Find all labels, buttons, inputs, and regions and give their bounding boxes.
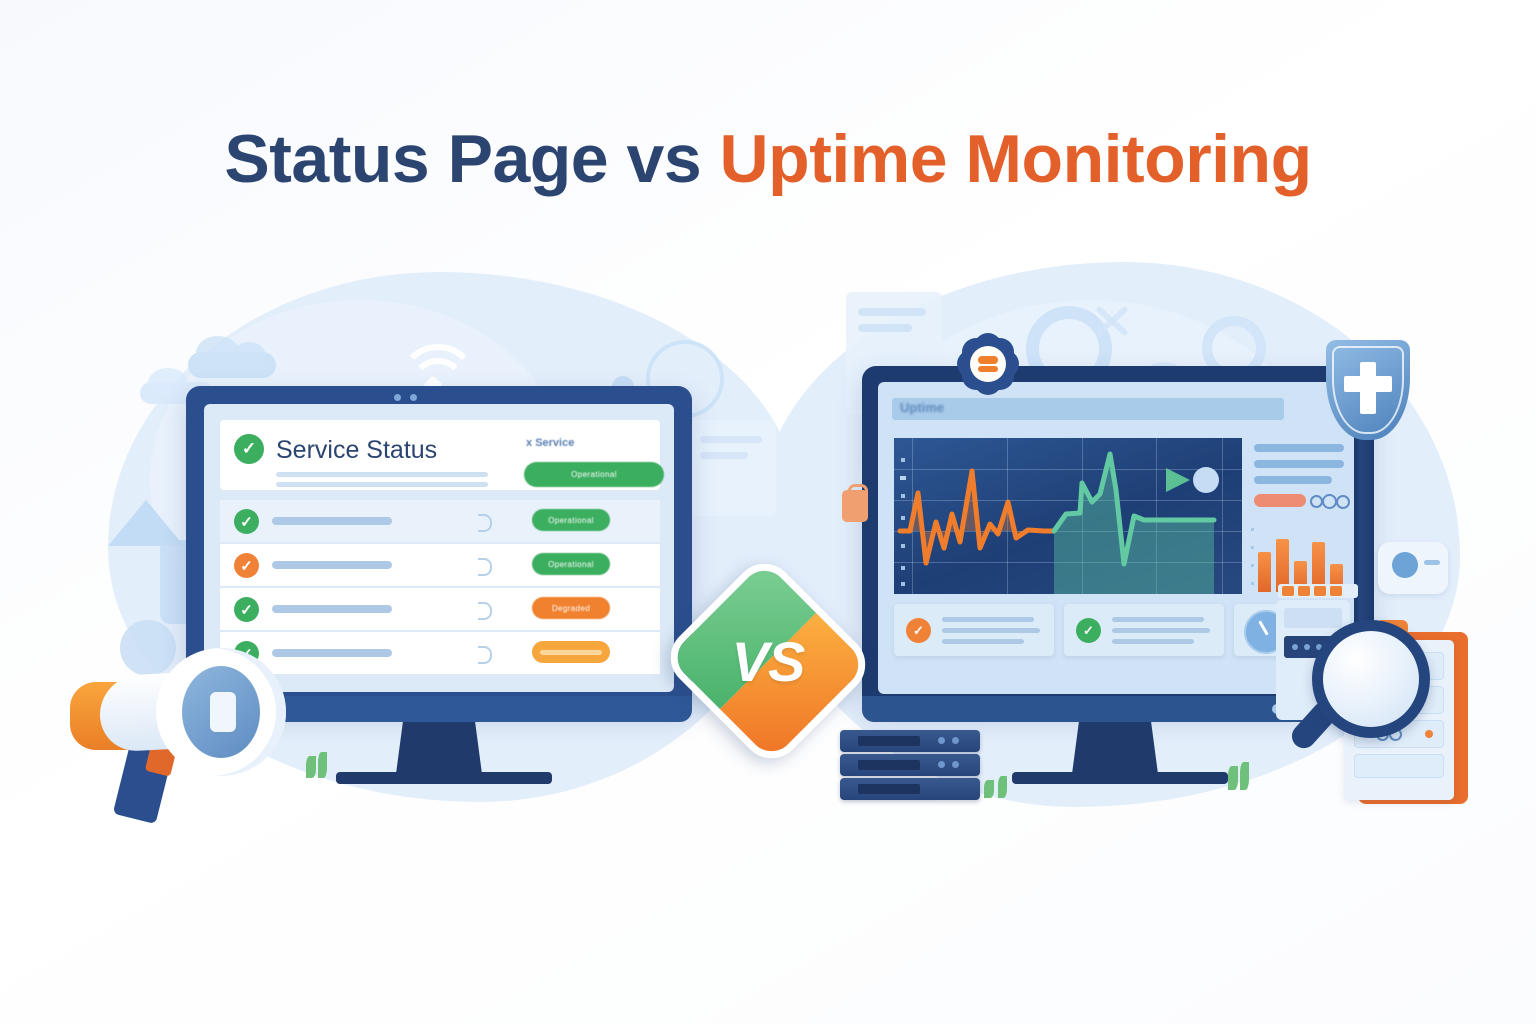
vs-badge: VS	[688, 586, 848, 736]
card-status-check-icon: ✓	[906, 618, 931, 643]
uptime-line-chart	[894, 438, 1242, 594]
right-monitor-neck	[1072, 722, 1158, 774]
page-title-part-orange: Uptime Monitoring	[720, 121, 1312, 197]
card-line-1	[942, 617, 1034, 622]
doc-decor-right-1-line1	[858, 308, 926, 316]
user-badge-line	[1424, 560, 1440, 565]
play-marker-icon	[1166, 468, 1190, 492]
page-title: Status Page vs Uptime Monitoring	[0, 124, 1536, 195]
status-badge-inner-bar	[540, 650, 602, 655]
left-monitor-base	[336, 772, 552, 784]
illustration-canvas: Status Page vs Uptime Monitoring	[0, 0, 1536, 1024]
user-avatar-icon	[1392, 552, 1418, 578]
status-badge: Degraded	[532, 597, 610, 619]
grass-decor-3	[984, 780, 994, 798]
status-badge-label: Operational	[548, 560, 594, 569]
table-row[interactable]: ✓ Degraded	[220, 588, 660, 630]
grass-decor-6	[1240, 762, 1249, 790]
toggle-dot-3[interactable]	[1336, 495, 1350, 509]
card-line-1	[1112, 617, 1204, 622]
right-monitor-header-text: Uptime	[900, 400, 944, 415]
chart-svg	[894, 438, 1242, 594]
side-panel-accent-pill	[1254, 494, 1306, 507]
list-item[interactable]: ✓	[894, 604, 1054, 656]
page-title-part-dark: Status Page vs	[224, 121, 719, 197]
row-status-check-icon: ✓	[234, 597, 259, 622]
gear-badge-icon	[962, 338, 1014, 390]
right-side-panel	[1252, 438, 1346, 594]
doc-decor-right-2-line2	[700, 452, 748, 459]
bar-1	[1258, 552, 1271, 592]
status-badge	[532, 641, 610, 663]
doc-decor-right-1-line2	[858, 324, 912, 332]
header-status-check-icon: ✓	[234, 434, 264, 464]
header-skeleton-line-2	[276, 482, 488, 487]
side-panel-line-1	[1254, 444, 1344, 452]
chart-orange-line	[900, 471, 1054, 563]
left-monitor-led-1	[394, 394, 401, 401]
shield-cross-icon	[1326, 340, 1410, 440]
brand-text: Service	[535, 437, 574, 449]
magnifying-glass-icon[interactable]	[1296, 620, 1424, 750]
status-badge-label: Operational	[548, 516, 594, 525]
cloud-decor-3	[232, 342, 266, 370]
card-line-2	[1112, 628, 1210, 633]
status-badge: Operational	[532, 509, 610, 531]
header-skeleton-line-1	[276, 472, 488, 477]
shield-pole	[1358, 430, 1374, 630]
doc-decor-right-2-line1	[700, 436, 762, 443]
row-status-check-icon: ✓	[234, 509, 259, 534]
grass-decor-5	[1228, 766, 1238, 790]
card-line-3	[942, 639, 1024, 644]
chart-endpoint-dot	[1193, 467, 1219, 493]
megaphone-icon	[64, 640, 334, 820]
row-value-skeleton	[478, 602, 492, 620]
vs-badge-label: VS	[688, 586, 848, 736]
service-status-header-panel: ✓ Service Status x Service Operational	[220, 420, 660, 490]
row-label-skeleton	[272, 561, 392, 569]
toggle-dot-2[interactable]	[1322, 494, 1337, 509]
card-status-check-icon: ✓	[1076, 618, 1101, 643]
side-panel-line-2	[1254, 460, 1344, 468]
status-badge-label: Degraded	[552, 604, 590, 613]
row-label-skeleton	[272, 517, 392, 525]
grass-decor-1	[306, 756, 316, 778]
right-monitor-base	[1012, 772, 1228, 784]
card-line-3	[1112, 639, 1194, 644]
status-badge: Operational	[532, 553, 610, 575]
table-row[interactable]: ✓ Operational	[220, 544, 660, 586]
left-monitor-neck	[396, 722, 482, 774]
header-operational-label: Operational	[571, 470, 617, 479]
grass-decor-2	[318, 752, 327, 778]
left-monitor-led-2	[410, 394, 417, 401]
grass-decor-4	[998, 776, 1007, 798]
brand-label: x Service	[526, 437, 574, 449]
right-monitor-header-bar	[892, 398, 1284, 420]
row-status-check-icon: ✓	[234, 553, 259, 578]
cloud-decor-5	[148, 368, 188, 398]
brand-prefix: x	[526, 437, 532, 449]
table-row[interactable]: ✓ Operational	[220, 500, 660, 542]
card-line-2	[942, 628, 1040, 633]
row-label-skeleton	[272, 605, 392, 613]
doc-decor-right-2	[690, 420, 776, 516]
service-status-title: Service Status	[276, 436, 437, 465]
row-value-skeleton	[478, 646, 492, 664]
header-operational-button[interactable]: Operational	[524, 462, 664, 487]
uptime-bar-chart	[1252, 520, 1346, 592]
side-panel-line-3	[1254, 476, 1332, 484]
row-value-skeleton	[478, 514, 492, 532]
lock-shackle-icon	[848, 484, 868, 497]
list-item[interactable]: ✓	[1064, 604, 1224, 656]
row-value-skeleton	[478, 558, 492, 576]
